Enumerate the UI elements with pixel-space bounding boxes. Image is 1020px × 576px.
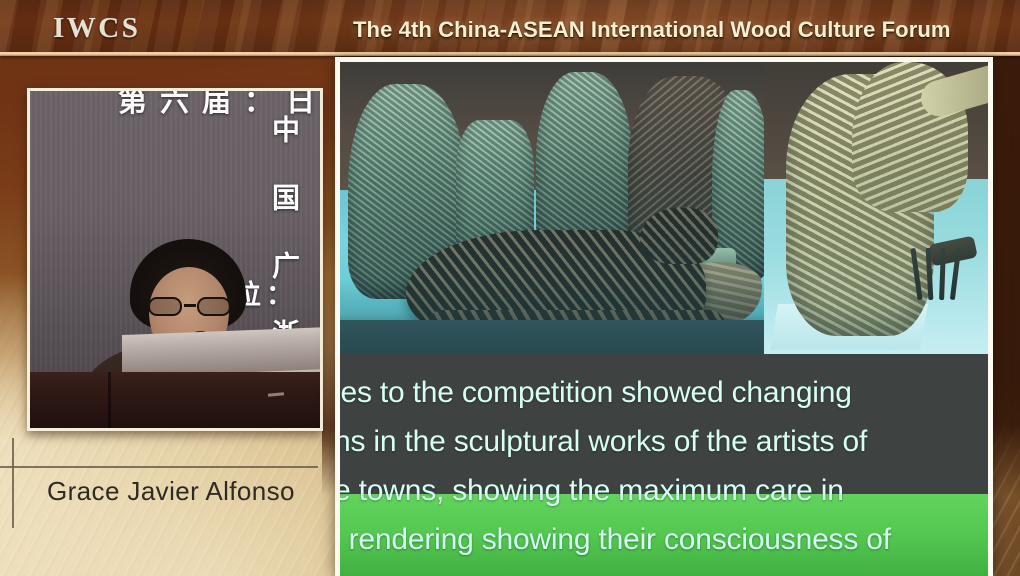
- forum-title: The 4th China-ASEAN International Wood C…: [353, 17, 951, 43]
- slide-photo-row: [340, 62, 988, 354]
- speaker-name: Grace Javier Alfonso: [47, 476, 295, 507]
- nameplate-horizontal-rule: [0, 466, 318, 468]
- speaker-video: 第六届：日 单位： 中国广浙: [30, 91, 320, 428]
- carved-leopard-head: [640, 208, 718, 264]
- slide-text-line-3: e towns, showing the maximum care in: [340, 466, 988, 515]
- podium-body: [30, 372, 320, 428]
- header-divider-rule: [0, 52, 1020, 56]
- slide-text-line-4: l rendering showing their consciousness …: [340, 515, 988, 564]
- podium-seam: [108, 372, 111, 428]
- iwcs-logo: IWCS: [53, 12, 140, 45]
- broadcast-screen: IWCS The 4th China-ASEAN International W…: [0, 0, 1020, 576]
- slide-body-text: ies to the competition showed changing n…: [340, 368, 988, 564]
- carving-tools: [908, 208, 974, 300]
- presentation-slide: ies to the competition showed changing n…: [340, 62, 988, 576]
- photo-left-floor: [340, 320, 764, 354]
- slide-photo-sculptures-table: [340, 62, 764, 354]
- speaker-video-frame: 第六届：日 单位： 中国广浙: [27, 88, 323, 431]
- presentation-slide-frame: ies to the competition showed changing n…: [335, 57, 993, 576]
- nameplate-vertical-rule: [12, 438, 14, 528]
- slide-text-line-2: ns in the sculptural works of the artist…: [340, 417, 988, 466]
- photo-left-table-shadow: [340, 278, 764, 320]
- slide-text-line-1: ies to the competition showed changing: [340, 368, 988, 417]
- slide-photo-large-sculpture: [764, 62, 988, 354]
- podium-top: [122, 327, 320, 377]
- speaker-glasses: [147, 297, 232, 316]
